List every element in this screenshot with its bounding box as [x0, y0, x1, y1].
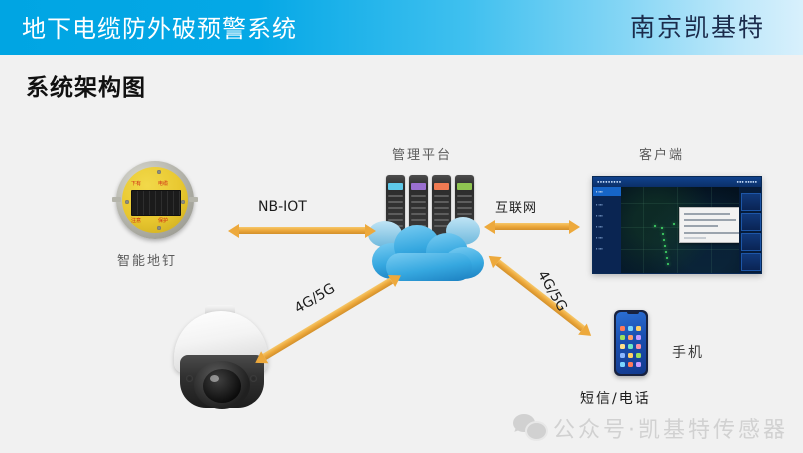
label-sms-call: 短信/电话	[580, 388, 651, 408]
client-map-popup	[679, 207, 739, 243]
nail-face: 下有 电缆 注意 保护	[122, 167, 188, 233]
wechat-icon	[513, 414, 547, 440]
page-title: 地下电缆防外破预警系统	[22, 9, 297, 44]
camera-ir-led-left	[186, 375, 193, 382]
label-smart-ground-nail: 智能地钉	[117, 250, 177, 269]
camera-ir-led-right	[250, 375, 257, 382]
nail-tab-left	[112, 197, 121, 202]
nail-screw-left	[125, 200, 129, 204]
smart-ground-nail-icon: 下有 电缆 注意 保护	[116, 161, 194, 239]
nail-text-top-right: 电缆	[158, 180, 168, 187]
camera-lens	[203, 369, 241, 403]
nail-text-top-left: 下有	[131, 180, 141, 187]
client-map-view	[621, 187, 739, 273]
label-management-platform: 管理平台	[392, 144, 452, 163]
client-sidebar: ▪ ▪▪▪ ▪ ▪▪▪ ▪ ▪▪▪ ▪ ▪▪▪ ▪ ▪▪▪ ▪ ▪▪▪	[593, 187, 621, 273]
arrow-4g5g-phone	[487, 253, 594, 339]
nail-screw-top	[157, 170, 161, 174]
arrow-nbiot	[228, 227, 376, 234]
brand-name: 南京凯基特	[630, 8, 765, 44]
phone-screen	[616, 312, 646, 374]
slide-canvas: 地下电缆防外破预警系统 南京凯基特 系统架构图 下有 电缆 注意 保护 智能地钉	[0, 0, 803, 453]
client-titlebar: ●●●●●●●●● ●●● ●●●●●	[593, 177, 761, 187]
mobile-phone-icon	[614, 310, 648, 376]
nail-text-bottom-left: 注意	[131, 217, 141, 224]
phone-notch	[627, 312, 639, 314]
wechat-watermark: 公众号·凯基特传感器	[509, 408, 799, 446]
management-platform-icon	[368, 175, 488, 285]
slide-header: 地下电缆防外破预警系统 南京凯基特	[0, 0, 803, 55]
arrow-label-internet: 互联网	[495, 197, 537, 216]
arrow-label-nbiot: NB-IOT	[258, 199, 307, 215]
nail-text-bottom-right: 保护	[158, 217, 168, 224]
nail-solar-panel	[131, 190, 181, 216]
arrow-internet	[484, 223, 580, 230]
nail-screw-right	[181, 200, 185, 204]
label-phone: 手机	[672, 342, 704, 362]
nail-tab-right	[189, 197, 198, 202]
section-title: 系统架构图	[26, 68, 146, 102]
client-titlebar-left: ●●●●●●●●●	[597, 179, 621, 184]
client-titlebar-right: ●●● ●●●●●	[737, 179, 757, 184]
cloud-icon	[372, 223, 484, 281]
watermark-text: 公众号·凯基特传感器	[553, 412, 788, 444]
client-right-panel	[739, 187, 761, 273]
label-client: 客户端	[639, 144, 684, 163]
camera-lens-glint	[210, 375, 219, 382]
nail-screw-bottom	[157, 226, 161, 230]
client-dashboard-screen: ●●●●●●●●● ●●● ●●●●● ▪ ▪▪▪ ▪ ▪▪▪ ▪ ▪▪▪ ▪ …	[592, 176, 762, 274]
